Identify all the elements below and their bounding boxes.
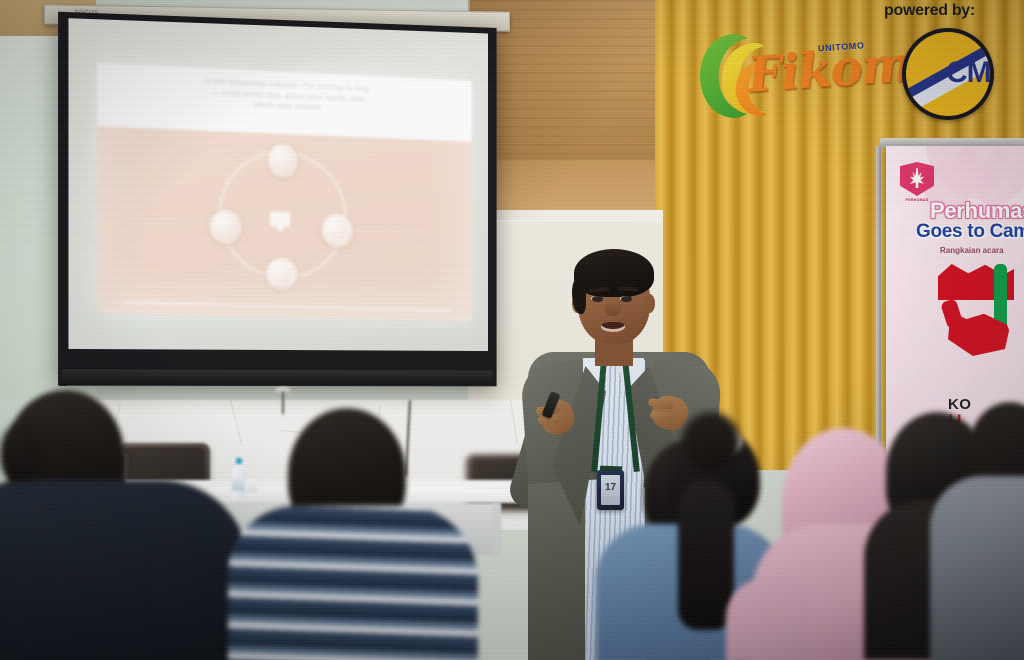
paper-cup bbox=[246, 480, 257, 493]
fikom-unitomo-logo: Fikom UNITOMO bbox=[700, 16, 860, 121]
water-bottle bbox=[232, 458, 245, 500]
slide-node-pr-officer bbox=[268, 143, 298, 178]
water-bottle-cap bbox=[236, 458, 242, 464]
banner-red-shape-3 bbox=[940, 298, 964, 330]
banner-title-line-2: Goes to Campus bbox=[916, 221, 1024, 243]
attendee-dark-shirt-left-body bbox=[0, 480, 250, 660]
speaker-id-badge: 17 bbox=[597, 470, 624, 510]
slide-monitor-icon bbox=[270, 211, 290, 227]
speaker-hair bbox=[574, 249, 654, 297]
banner-subtitle: Rangkaian acara bbox=[940, 246, 1004, 255]
sponsor-logo-block: powered by: CM bbox=[878, 0, 1018, 125]
lcm-letters: CM bbox=[946, 56, 991, 90]
banner-footer-text-1: KO bbox=[948, 396, 971, 413]
attendee-striped-shirt-body bbox=[228, 506, 478, 660]
attendee-back-row-head bbox=[682, 412, 740, 472]
slide-node-ring-a bbox=[326, 217, 350, 242]
attendee-pink-hijab-shoulder bbox=[726, 578, 810, 660]
perhumas-name: PERHUMAS bbox=[900, 198, 934, 202]
speaker-eye-left bbox=[592, 296, 603, 302]
speaker-hair-sideburn bbox=[572, 278, 586, 314]
seminar-photo: FOCUS In the Hospitality industry, The j… bbox=[0, 0, 1024, 660]
projector-screen-weight-bar bbox=[62, 369, 493, 384]
banner-graphic bbox=[938, 264, 1024, 384]
perhumas-logo: PERHUMAS bbox=[900, 162, 934, 196]
lcm-logo-mark: CM bbox=[902, 28, 994, 120]
wall-cream-trim bbox=[468, 210, 663, 222]
attendee-far-left-back-head bbox=[0, 424, 42, 480]
banner-pole bbox=[876, 146, 881, 476]
slide-node-asst-pr-manager bbox=[210, 209, 242, 244]
slide-label-pr-officer: PR Officer bbox=[210, 153, 238, 160]
attendee-right-gray-body bbox=[930, 476, 1024, 660]
attendee-ponytail bbox=[678, 480, 734, 630]
table-leg-right bbox=[492, 503, 501, 555]
projector-screen: In the Hospitality industry, The journey… bbox=[58, 12, 497, 387]
slide-label-pr-manager: PR Manager bbox=[224, 268, 257, 275]
water-bottle-label bbox=[232, 478, 245, 491]
powered-by-label: powered by: bbox=[884, 2, 975, 20]
microphone-stem bbox=[282, 392, 284, 414]
speaker-mouth bbox=[601, 322, 625, 332]
speaker-eye-right bbox=[621, 296, 632, 302]
presentation-slide: In the Hospitality industry, The journey… bbox=[97, 63, 471, 321]
projector-screen-surface: In the Hospitality industry, The journey… bbox=[68, 18, 488, 351]
speaker-nose bbox=[605, 300, 621, 316]
speaker-id-badge-number: 17 bbox=[597, 482, 624, 493]
speaker-ear-right bbox=[644, 294, 655, 313]
